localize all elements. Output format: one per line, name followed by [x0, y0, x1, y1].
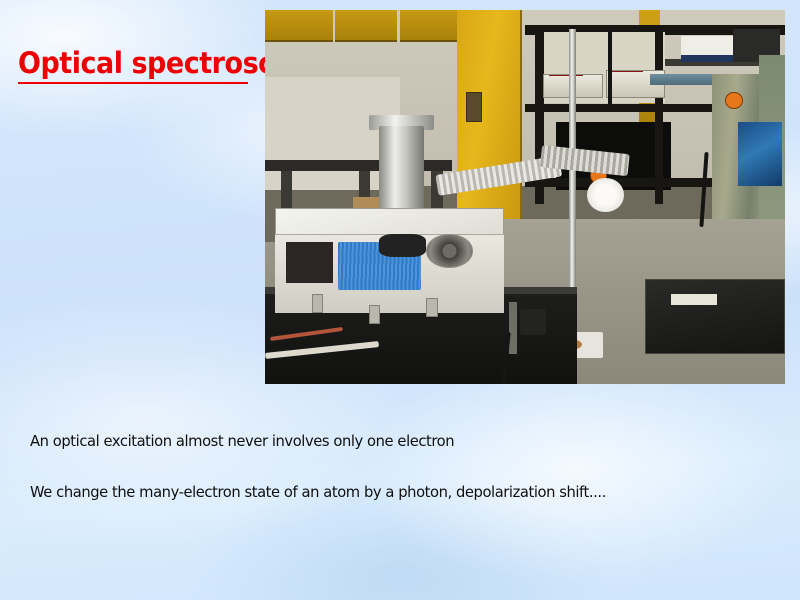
photo-workbench-top: [265, 160, 452, 171]
photo-white-coil: [587, 178, 623, 212]
photo-equipment-label: [671, 294, 718, 305]
photo-leveling-foot: [426, 298, 437, 317]
photo-cable: [608, 25, 612, 107]
slide-title-block: Optical spectroscopy: [18, 48, 278, 84]
photo-wall-cabinet: [265, 10, 333, 42]
title-underline: [18, 82, 248, 84]
photo-wall-cabinet: [400, 10, 457, 42]
photo-laser-head: [645, 279, 785, 354]
photo-spectrometer-open-panel: [286, 242, 333, 283]
slide-body-text: An optical excitation almost never invol…: [30, 432, 770, 501]
photo-wall-cabinet: [335, 10, 397, 42]
photo-cooling-fan: [426, 234, 473, 268]
photo-optical-post: [509, 302, 516, 354]
photo-rack-upright: [655, 25, 663, 205]
slide-canvas: Optical spectroscopy: [0, 0, 800, 600]
body-line-1: An optical excitation almost never invol…: [30, 432, 733, 450]
photo-blue-poster: [738, 122, 782, 186]
photo-internal-optic: [379, 234, 426, 256]
photo-yellow-door: [457, 10, 522, 242]
photo-leveling-foot: [369, 305, 380, 324]
body-line-2: We change the many-electron state of an …: [30, 483, 733, 501]
page-title: Optical spectroscopy: [18, 48, 260, 78]
photo-optical-mount: [520, 309, 546, 335]
photo-leveling-foot: [312, 294, 323, 313]
lab-photograph: [265, 10, 785, 384]
photo-vacuum-chamber: [379, 126, 423, 216]
photo-door-handle-plate: [466, 92, 483, 122]
